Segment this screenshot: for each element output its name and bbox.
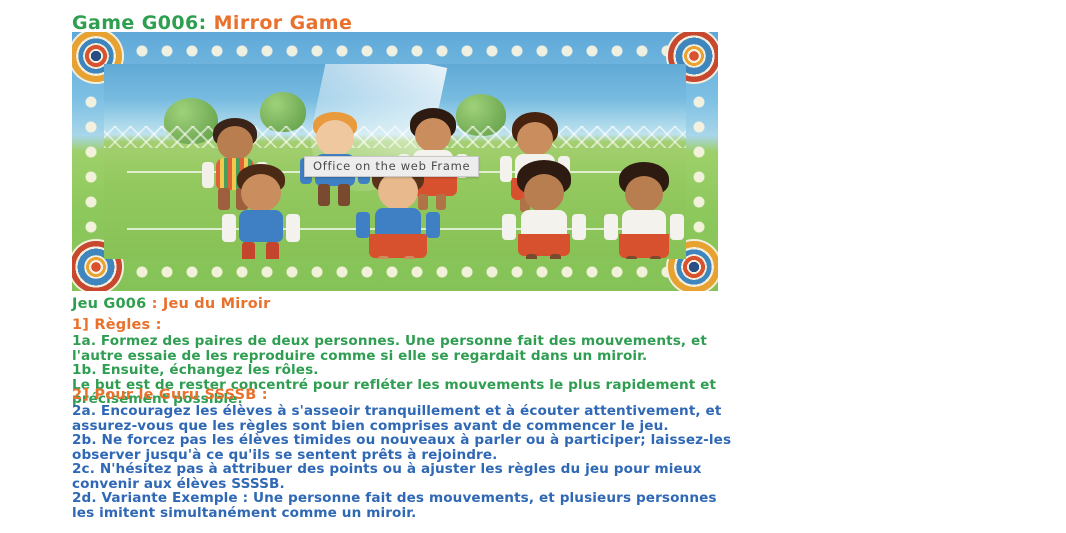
page-title-suffix: Mirror Game [207,12,353,34]
child-head [625,176,663,212]
guru-line: assurez-vous que les règles sont bien co… [72,419,1002,434]
child-arm-left [604,214,618,240]
page-subtitle-suffix: : Jeu du Miroir [146,296,270,312]
child-leg-left [626,256,637,259]
child-figure-5 [222,162,300,259]
game-illustration: Office on the web Frame [72,32,718,291]
border-motif-bottom [106,259,684,285]
child-arm-right [572,214,586,240]
rules-line: 1b. Ensuite, échangez les rôles. [72,363,1002,378]
child-figure-7 [502,160,586,259]
child-body [239,210,283,242]
child-arm-left [356,212,370,238]
child-leg-right [650,256,661,259]
child-arm-right [670,214,684,240]
page-subtitle: Jeu G006 : Jeu du Miroir [72,296,270,312]
child-leg-left [378,256,389,259]
fence [104,126,686,148]
playfield-scene: Office on the web Frame [104,64,686,259]
guru-line: 2b. Ne forcez pas les élèves timides ou … [72,433,1002,448]
section-rules-heading: 1] Règles : [72,318,1002,333]
child-head [378,172,418,210]
child-head [241,174,281,212]
document-page: Game G006: Mirror Game [0,0,1066,533]
page-title: Game G006: Mirror Game [72,12,352,34]
office-web-frame-label: Office on the web Frame [304,156,479,177]
child-leg-left [242,242,255,259]
child-leg-right [266,242,279,259]
page-subtitle-prefix: Jeu G006 [72,296,146,312]
guru-line: observer jusqu'à ce qu'ils se sentent pr… [72,448,1002,463]
child-head [217,126,253,160]
child-skirt [619,234,669,258]
child-leg-left [318,184,330,206]
child-leg-left [526,254,537,259]
child-skirt [369,234,427,258]
page-title-prefix: Game G006: [72,12,207,34]
guru-line: les imitent simultanément comme un miroi… [72,506,1002,521]
section-guru-heading: 2] Pour le Guru SSSSB : [72,388,1002,403]
child-arm-right [286,214,300,242]
child-leg-right [550,254,561,259]
child-head [524,174,564,212]
child-arm-right [426,212,440,238]
guru-line: 2d. Variante Exemple : Une personne fait… [72,491,1002,506]
section-guru: 2] Pour le Guru SSSSB : 2a. Encouragez l… [72,388,1002,520]
guru-line: 2c. N'hésitez pas à attribuer des points… [72,462,1002,477]
child-arm-left [202,162,214,188]
illustration-canvas: Office on the web Frame [72,32,718,291]
child-leg-right [338,184,350,206]
border-motif-right [686,66,712,257]
guru-line: 2a. Encouragez les élèves à s'asseoir tr… [72,404,1002,419]
child-head [316,120,354,156]
guru-line: convenir aux élèves SSSSB. [72,477,1002,492]
child-head [517,122,553,156]
border-motif-top [106,38,684,64]
section-guru-body: 2a. Encouragez les élèves à s'asseoir tr… [72,404,1002,520]
child-head [415,118,451,152]
child-arm-left [222,214,236,242]
child-skirt [518,234,570,256]
rules-line: 1a. Formez des paires de deux personnes.… [72,334,1002,349]
border-motif-left [78,66,104,257]
child-leg-right [404,256,415,259]
child-figure-8 [604,162,684,259]
child-arm-left [502,214,516,240]
rules-line: l'autre essaie de les reproduire comme s… [72,349,1002,364]
